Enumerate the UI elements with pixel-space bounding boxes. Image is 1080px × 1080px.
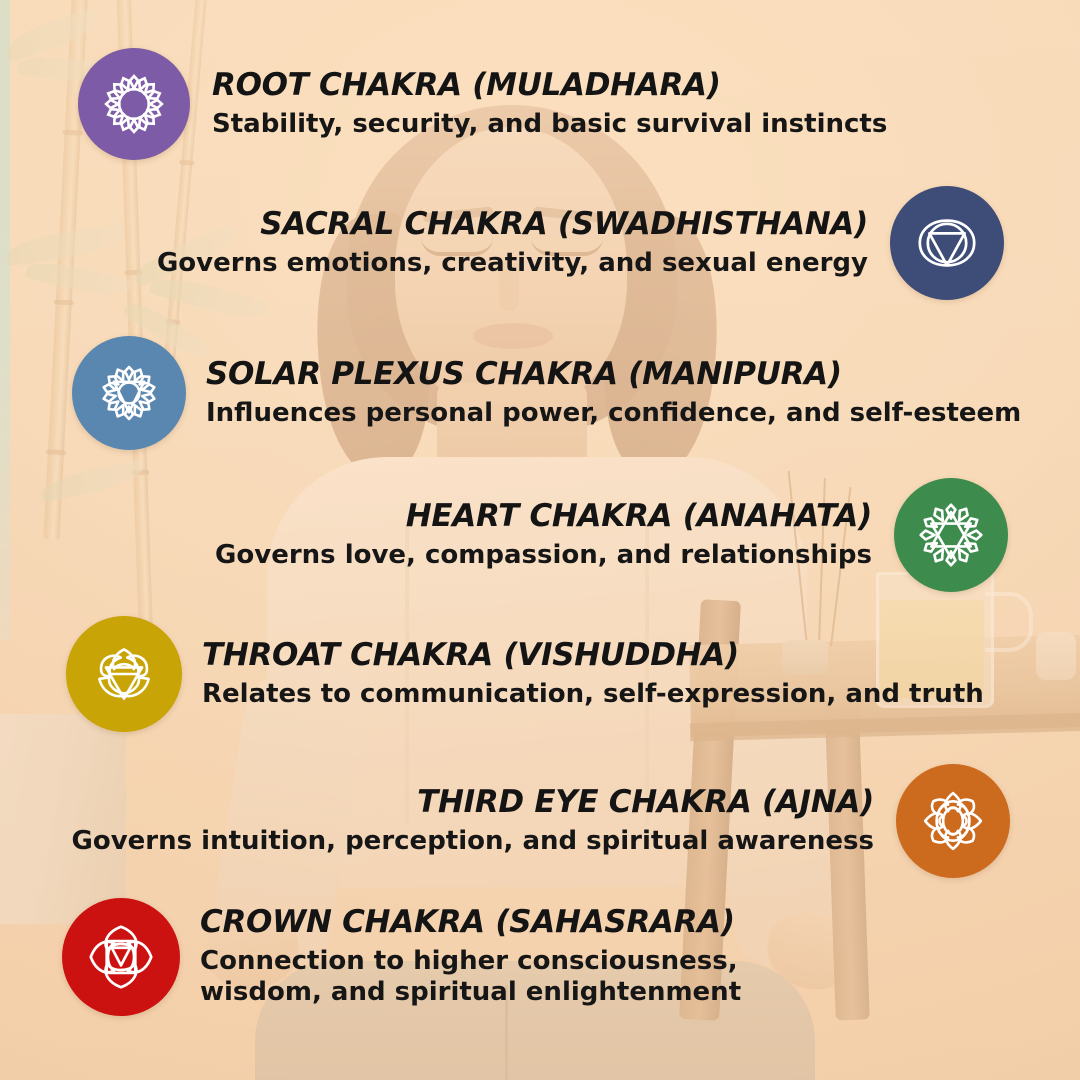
chakra-row-solar-plexus[interactable]: SOLAR PLEXUS CHAKRA (MANIPURA) Influence… xyxy=(72,336,1021,450)
sacral-chakra-title: SACRAL CHAKRA (SWADHISTHANA) xyxy=(260,208,868,241)
throat-chakra-title: THROAT CHAKRA (VISHUDDHA) xyxy=(202,639,739,672)
chakra-row-heart[interactable]: HEART CHAKRA (ANAHATA) Governs love, com… xyxy=(215,478,1008,592)
sacral-chakra-text: SACRAL CHAKRA (SWADHISTHANA) Governs emo… xyxy=(157,208,868,279)
heart-chakra-text: HEART CHAKRA (ANAHATA) Governs love, com… xyxy=(215,500,872,571)
third-eye-chakra-rings-icon xyxy=(912,780,994,862)
chakra-row-sacral[interactable]: SACRAL CHAKRA (SWADHISTHANA) Governs emo… xyxy=(157,186,1004,300)
solar-plexus-chakra-badge[interactable] xyxy=(72,336,186,450)
heart-chakra-hexagram-icon xyxy=(910,494,992,576)
crown-chakra-description: Connection to higher consciousness, wisd… xyxy=(200,946,840,1007)
solar-plexus-chakra-title: SOLAR PLEXUS CHAKRA (MANIPURA) xyxy=(206,358,842,391)
crown-chakra-title: CROWN CHAKRA (SAHASRARA) xyxy=(200,906,735,939)
chakra-row-throat[interactable]: THROAT CHAKRA (VISHUDDHA) Relates to com… xyxy=(66,616,984,732)
chakra-list: ROOT CHAKRA (MULADHARA) Stability, secur… xyxy=(0,0,1080,1080)
heart-chakra-badge[interactable] xyxy=(894,478,1008,592)
root-chakra-title: ROOT CHAKRA (MULADHARA) xyxy=(212,69,721,102)
crown-chakra-text: CROWN CHAKRA (SAHASRARA) Connection to h… xyxy=(200,906,840,1007)
sacral-chakra-circle-triangle-icon xyxy=(907,203,987,283)
root-chakra-lotus-icon xyxy=(95,65,173,143)
root-chakra-description: Stability, security, and basic survival … xyxy=(212,109,887,140)
throat-chakra-badge[interactable] xyxy=(66,616,182,732)
chakra-row-crown[interactable]: CROWN CHAKRA (SAHASRARA) Connection to h… xyxy=(62,898,840,1016)
sacral-chakra-description: Governs emotions, creativity, and sexual… xyxy=(157,248,868,279)
sacral-chakra-badge[interactable] xyxy=(890,186,1004,300)
chakra-row-third-eye[interactable]: THIRD EYE CHAKRA (AJNA) Governs intuitio… xyxy=(72,764,1010,878)
crown-chakra-badge[interactable] xyxy=(62,898,180,1016)
root-chakra-badge[interactable] xyxy=(78,48,190,160)
solar-plexus-chakra-lotus-triangle-icon xyxy=(89,353,169,433)
infographic-canvas: ROOT CHAKRA (MULADHARA) Stability, secur… xyxy=(0,0,1080,1080)
heart-chakra-title: HEART CHAKRA (ANAHATA) xyxy=(406,500,872,533)
third-eye-chakra-badge[interactable] xyxy=(896,764,1010,878)
throat-chakra-text: THROAT CHAKRA (VISHUDDHA) Relates to com… xyxy=(202,639,984,710)
crown-chakra-four-petal-icon xyxy=(79,915,163,999)
throat-chakra-lotus-triangle-icon xyxy=(83,633,165,715)
third-eye-chakra-title: THIRD EYE CHAKRA (AJNA) xyxy=(417,786,874,819)
third-eye-chakra-text: THIRD EYE CHAKRA (AJNA) Governs intuitio… xyxy=(72,786,874,857)
solar-plexus-chakra-text: SOLAR PLEXUS CHAKRA (MANIPURA) Influence… xyxy=(206,358,1021,429)
third-eye-chakra-description: Governs intuition, perception, and spiri… xyxy=(72,826,874,857)
root-chakra-text: ROOT CHAKRA (MULADHARA) Stability, secur… xyxy=(212,69,887,140)
throat-chakra-description: Relates to communication, self-expressio… xyxy=(202,679,984,710)
chakra-row-root[interactable]: ROOT CHAKRA (MULADHARA) Stability, secur… xyxy=(78,48,887,160)
solar-plexus-chakra-description: Influences personal power, confidence, a… xyxy=(206,398,1021,429)
heart-chakra-description: Governs love, compassion, and relationsh… xyxy=(215,540,872,571)
